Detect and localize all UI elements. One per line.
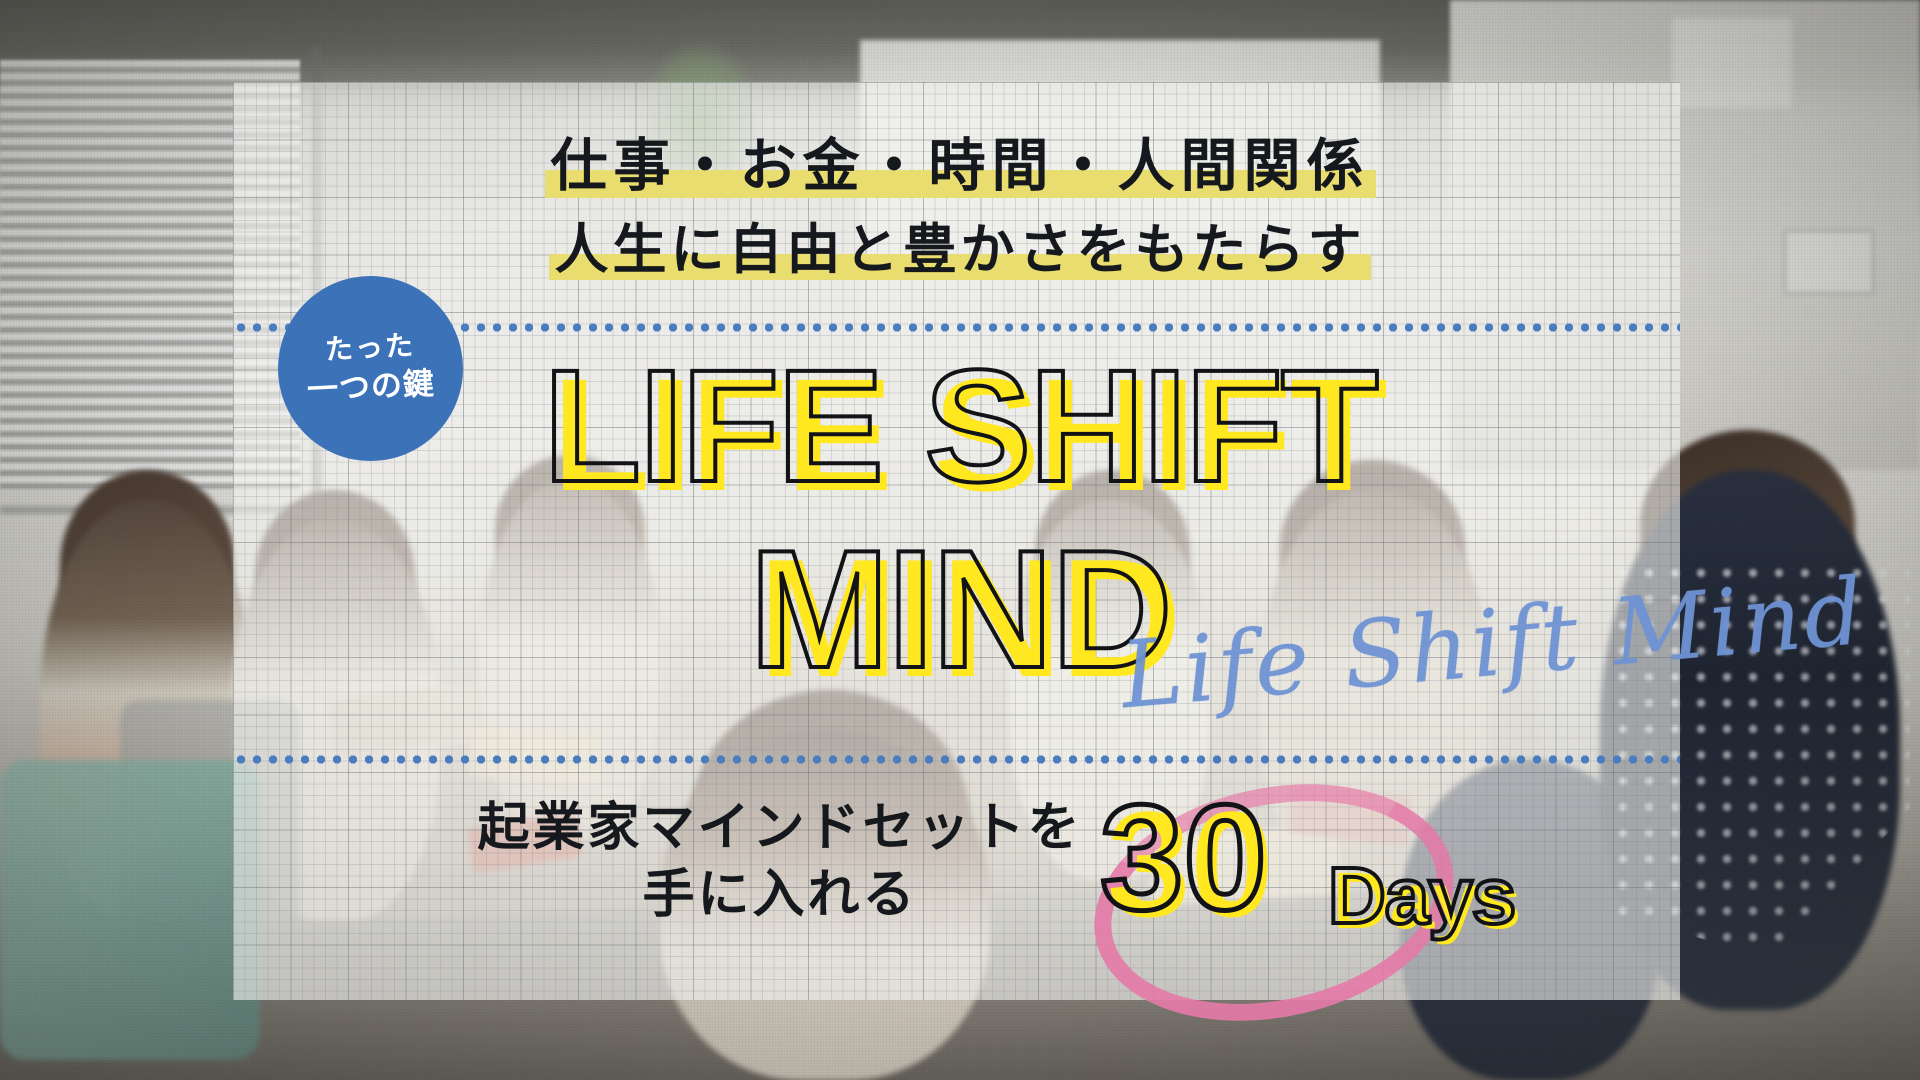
title-outline-1: LIFE SHIFT	[543, 350, 1376, 502]
headline-text-2: 人生に自由と豊かさをもたらす	[555, 218, 1366, 281]
tagline-line-2: 手に入れる	[430, 862, 1130, 929]
badge-label-2: 一つの鍵	[306, 366, 436, 408]
tagline-line-1: 起業家マインドセットを	[430, 795, 1130, 862]
title-outline-2: MIND	[749, 530, 1170, 690]
duration-unit-outline: Days	[1328, 856, 1515, 936]
headline-line-2: 人生に自由と豊かさをもたらす	[0, 205, 1920, 284]
duration-unit: Days Days	[1328, 856, 1515, 936]
tagline: 起業家マインドセットを 手に入れる	[430, 795, 1130, 928]
key-badge: たった 一つの鍵	[278, 276, 463, 461]
duration-badge: 30 30 Days Days	[1070, 760, 1490, 990]
headline-text-1: 仕事・お金・時間・人間関係	[551, 133, 1370, 199]
poster-canvas: 仕事・お金・時間・人間関係 人生に自由と豊かさをもたらす たった 一つの鍵 Li…	[0, 0, 1920, 1080]
badge-label-1: たった	[325, 329, 417, 366]
duration-number: 30 30	[1100, 782, 1267, 932]
duration-number-outline: 30	[1100, 782, 1267, 932]
headline-line-1: 仕事・お金・時間・人間関係	[0, 120, 1920, 202]
